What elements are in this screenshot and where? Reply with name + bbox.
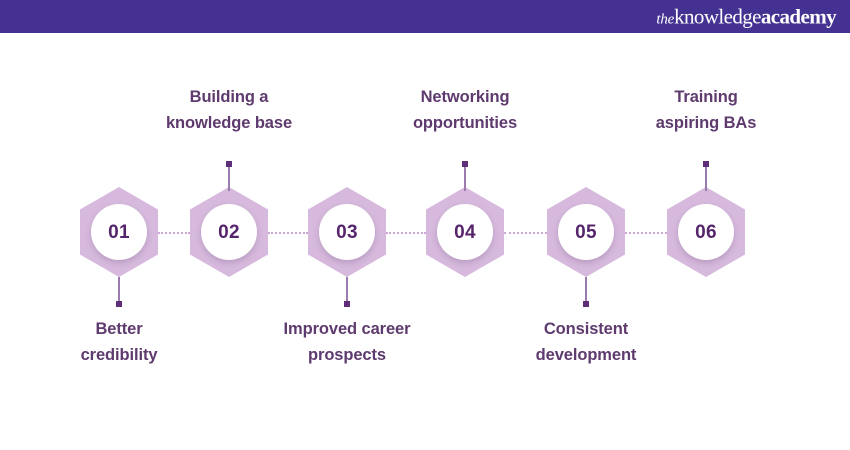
stem-dot-icon-05 xyxy=(583,301,589,307)
node-disc-06: 06 xyxy=(678,204,734,260)
node-disc-02: 02 xyxy=(201,204,257,260)
step-label-03-line2: prospects xyxy=(247,343,447,369)
stem-dot-icon-01 xyxy=(116,301,122,307)
connector-dotted-01-02 xyxy=(158,232,190,234)
step-label-05-line2: development xyxy=(491,343,681,369)
step-label-02-line1: Building a xyxy=(134,85,324,111)
process-node-01[interactable]: 01 xyxy=(80,187,158,277)
node-disc-03: 03 xyxy=(319,204,375,260)
stem-connector-03 xyxy=(346,277,348,307)
step-label-06-line2: aspiring BAs xyxy=(616,111,796,137)
process-node-02[interactable]: 02 xyxy=(190,187,268,277)
node-disc-01: 01 xyxy=(91,204,147,260)
stem-connector-05 xyxy=(585,277,587,307)
node-number-03: 03 xyxy=(336,223,358,242)
stem-connector-02 xyxy=(228,161,230,191)
node-disc-05: 05 xyxy=(558,204,614,260)
step-label-01: Better credibility xyxy=(29,317,209,368)
stem-connector-01 xyxy=(118,277,120,307)
stem-dot-icon-02 xyxy=(226,161,232,167)
process-diagram: 01 Better credibility 02 Building a know… xyxy=(0,33,850,450)
process-node-03[interactable]: 03 xyxy=(308,187,386,277)
step-label-06: Training aspiring BAs xyxy=(616,85,796,136)
stem-dot-icon-06 xyxy=(703,161,709,167)
step-label-05-line1: Consistent xyxy=(491,317,681,343)
connector-dotted-02-03 xyxy=(268,232,308,234)
node-number-01: 01 xyxy=(108,223,130,242)
node-disc-04: 04 xyxy=(437,204,493,260)
step-label-04-line1: Networking xyxy=(375,85,555,111)
step-label-04-line2: opportunities xyxy=(375,111,555,137)
stem-dot-icon-04 xyxy=(462,161,468,167)
process-node-04[interactable]: 04 xyxy=(426,187,504,277)
connector-dotted-05-06 xyxy=(625,232,667,234)
node-number-06: 06 xyxy=(695,223,717,242)
stem-dot-icon-03 xyxy=(344,301,350,307)
step-label-03-line1: Improved career xyxy=(247,317,447,343)
node-number-04: 04 xyxy=(454,223,476,242)
step-label-01-line1: Better xyxy=(29,317,209,343)
step-label-03: Improved career prospects xyxy=(247,317,447,368)
theknowledgeacademy-logo[interactable]: theknowledgeacademy xyxy=(656,6,836,27)
stem-connector-04 xyxy=(464,161,466,191)
step-label-02-line2: knowledge base xyxy=(134,111,324,137)
logo-word-academy: academy xyxy=(761,4,836,28)
process-node-05[interactable]: 05 xyxy=(547,187,625,277)
logo-prefix-the: the xyxy=(656,11,674,27)
node-number-05: 05 xyxy=(575,223,597,242)
header-bar: theknowledgeacademy xyxy=(0,0,850,33)
logo-word-knowledge: knowledge xyxy=(674,4,761,28)
step-label-01-line2: credibility xyxy=(29,343,209,369)
step-label-05: Consistent development xyxy=(491,317,681,368)
step-label-02: Building a knowledge base xyxy=(134,85,324,136)
step-label-04: Networking opportunities xyxy=(375,85,555,136)
stem-connector-06 xyxy=(705,161,707,191)
node-number-02: 02 xyxy=(218,223,240,242)
connector-dotted-03-04 xyxy=(386,232,426,234)
step-label-06-line1: Training xyxy=(616,85,796,111)
connector-dotted-04-05 xyxy=(504,232,547,234)
process-node-06[interactable]: 06 xyxy=(667,187,745,277)
